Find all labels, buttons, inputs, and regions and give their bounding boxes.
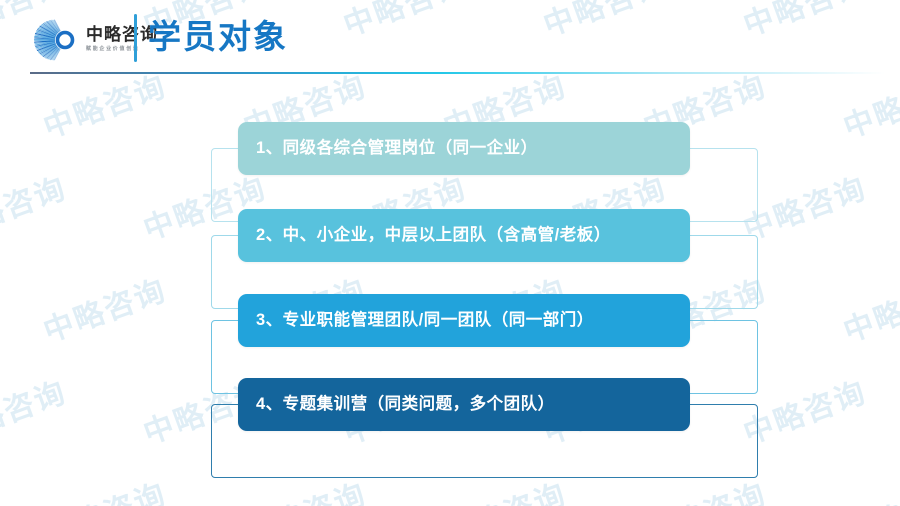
slide-canvas: 中略咨询中略咨询中略咨询中略咨询中略咨询中略咨询中略咨询中略咨询中略咨询中略咨询… bbox=[0, 0, 900, 506]
audience-row-label: 3、专业职能管理团队/同一团队（同一部门） bbox=[256, 312, 594, 329]
audience-row: 4、专题集训营（同类问题，多个团队） bbox=[0, 378, 900, 482]
title-divider bbox=[134, 14, 137, 62]
audience-row-label: 4、专题集训营（同类问题，多个团队） bbox=[256, 396, 555, 413]
audience-row-bar[interactable]: 4、专题集训营（同类问题，多个团队） bbox=[238, 378, 690, 431]
audience-row-label: 1、同级各综合管理岗位（同一企业） bbox=[256, 140, 538, 157]
audience-row-bar[interactable]: 1、同级各综合管理岗位（同一企业） bbox=[238, 122, 690, 175]
audience-row-bar[interactable]: 3、专业职能管理团队/同一团队（同一部门） bbox=[238, 294, 690, 347]
radial-burst-logo-icon bbox=[26, 17, 82, 61]
header-rule bbox=[30, 72, 885, 74]
audience-row-label: 2、中、小企业，中层以上团队（含高管/老板） bbox=[256, 227, 611, 244]
brand-logo: 中略咨询 赋能企业价值创造 bbox=[26, 16, 158, 62]
audience-row-bar[interactable]: 2、中、小企业，中层以上团队（含高管/老板） bbox=[238, 209, 690, 262]
slide-header: 中略咨询 赋能企业价值创造 学员对象 bbox=[0, 0, 900, 78]
page-title: 学员对象 bbox=[148, 13, 288, 61]
